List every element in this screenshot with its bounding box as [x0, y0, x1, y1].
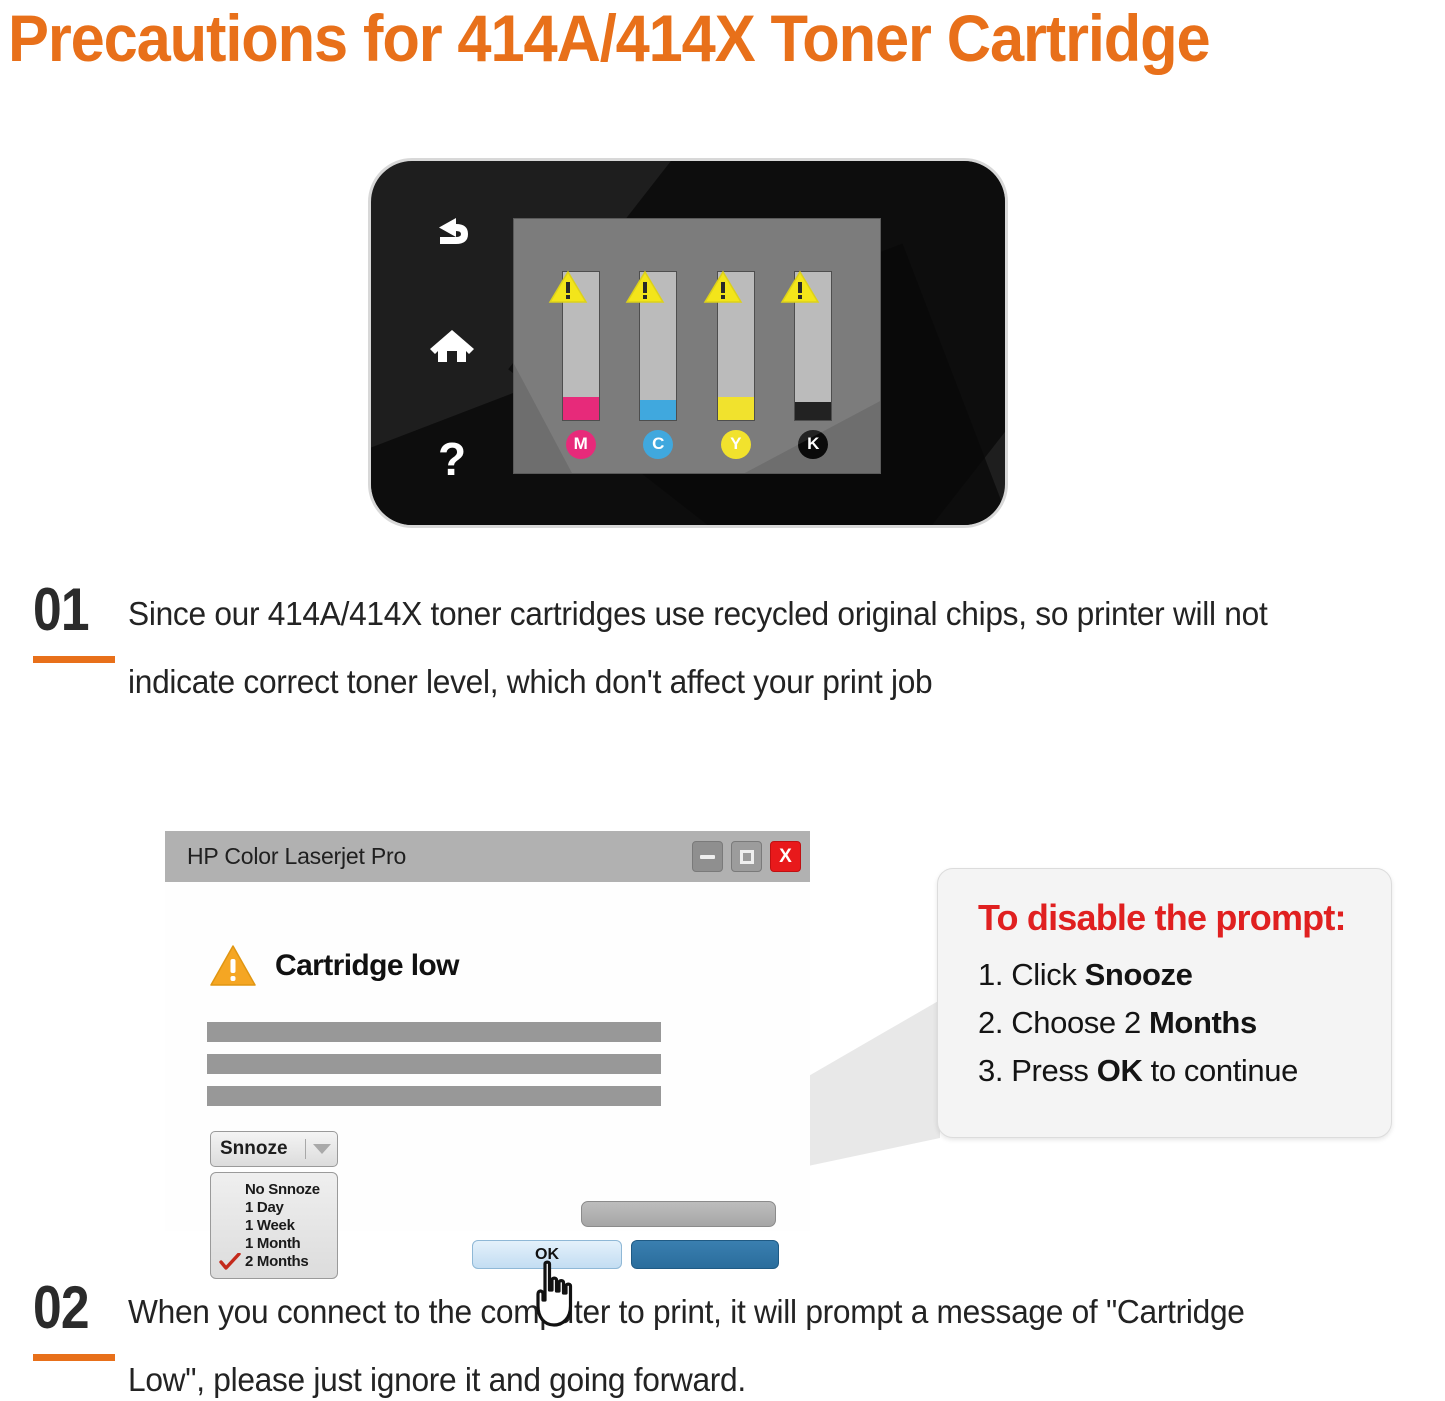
- panel-bezel: ?: [368, 158, 1008, 528]
- snooze-option-label: 1 Day: [245, 1199, 284, 1216]
- callout-step-2: 2. Choose 2 Months: [978, 999, 1391, 1047]
- dialog-primary-blue-button[interactable]: [631, 1240, 779, 1269]
- callout-step-strong: OK: [1097, 1053, 1143, 1088]
- svg-text:?: ?: [438, 434, 466, 482]
- toner-gauge-magenta: M: [550, 253, 612, 459]
- placeholder-bar: [207, 1086, 661, 1106]
- callout-step-number: 2.: [978, 1005, 1003, 1040]
- step-number: 01: [33, 580, 115, 640]
- printer-control-panel: ?: [368, 158, 1008, 528]
- toner-badge-m: M: [566, 430, 596, 460]
- callout-step-number: 3.: [978, 1053, 1003, 1088]
- toner-tube: [562, 271, 600, 421]
- callout-heading: To disable the prompt:: [978, 897, 1391, 939]
- callout-step-strong: Snooze: [1085, 957, 1193, 992]
- cartridge-low-dialog: HP Color Laserjet Pro X: [165, 831, 810, 1231]
- callout-step-pre: Click: [1011, 957, 1084, 992]
- snooze-option-1-day[interactable]: 1 Day: [215, 1198, 333, 1216]
- toner-fill: [563, 397, 599, 419]
- step-number-col-02: 02: [0, 1278, 128, 1401]
- step-text: When you connect to the computer to prin…: [128, 1278, 1328, 1401]
- callout-step-number: 1.: [978, 957, 1003, 992]
- maximize-icon[interactable]: [731, 841, 762, 872]
- toner-badge-k: K: [798, 430, 828, 460]
- dialog-alert-row: Cartridge low: [165, 944, 810, 988]
- snooze-option-1-week[interactable]: 1 Week: [215, 1216, 333, 1234]
- snooze-option-label: No Snnoze: [245, 1181, 320, 1198]
- snooze-option-label: 1 Month: [245, 1235, 300, 1252]
- dialog-text-placeholders: [165, 1022, 810, 1106]
- snooze-option-1-month[interactable]: 1 Month: [215, 1234, 333, 1252]
- step-rule: [33, 656, 115, 663]
- dialog-body: Cartridge low Snnoze No Snnoze: [165, 882, 810, 1231]
- close-icon[interactable]: X: [770, 841, 801, 872]
- warning-triangle-icon: [209, 944, 257, 988]
- callout-step-post: to continue: [1142, 1053, 1297, 1088]
- toner-fill: [795, 402, 831, 420]
- panel-screen: M C: [513, 218, 881, 474]
- dialog-alert-heading: Cartridge low: [275, 949, 459, 983]
- toner-tube: [717, 271, 755, 421]
- checkmark-icon: [219, 1253, 241, 1270]
- warning-triangle-icon: [548, 270, 588, 304]
- home-icon[interactable]: [423, 317, 481, 375]
- dialog-secondary-bar-button[interactable]: [581, 1201, 776, 1227]
- precautions-infographic: Precautions for 414A/414X Toner Cartridg…: [0, 0, 1445, 1401]
- toner-gauge-yellow: Y: [705, 253, 767, 459]
- divider: [305, 1139, 306, 1159]
- toner-tube: [794, 271, 832, 421]
- back-arrow-icon[interactable]: [423, 205, 481, 263]
- hand-cursor-icon: [529, 1260, 585, 1328]
- minimize-icon[interactable]: [692, 841, 723, 872]
- snooze-select-button[interactable]: Snnoze: [210, 1131, 338, 1167]
- snooze-options-list: No Snnoze 1 Day 1 Week 1 Month: [210, 1172, 338, 1279]
- toner-fill: [640, 400, 676, 419]
- placeholder-bar: [207, 1022, 661, 1042]
- callout-instructions: To disable the prompt: 1. Click Snooze 2…: [937, 868, 1392, 1138]
- help-question-icon[interactable]: ?: [423, 429, 481, 487]
- toner-level-gauges: M C: [514, 219, 880, 473]
- placeholder-bar: [207, 1054, 661, 1074]
- step-rule: [33, 1354, 115, 1361]
- page-title: Precautions for 414A/414X Toner Cartridg…: [8, 0, 1343, 80]
- callout-step-3: 3. Press OK to continue: [978, 1047, 1391, 1095]
- step-text: Since our 414A/414X toner cartridges use…: [128, 580, 1328, 716]
- step-number: 02: [33, 1278, 115, 1338]
- toner-gauge-cyan: C: [627, 253, 689, 459]
- warning-triangle-icon: [625, 270, 665, 304]
- panel-nav-buttons: ?: [409, 205, 495, 487]
- dialog-titlebar: HP Color Laserjet Pro X: [165, 831, 810, 882]
- toner-fill: [718, 397, 754, 419]
- step-block-01: 01 Since our 414A/414X toner cartridges …: [0, 580, 1420, 716]
- callout-step-1: 1. Click Snooze: [978, 951, 1391, 999]
- callout-step-pre: Choose 2: [1011, 1005, 1149, 1040]
- window-controls: X: [692, 841, 801, 872]
- snooze-option-label: 1 Week: [245, 1217, 295, 1234]
- dialog-window-title: HP Color Laserjet Pro: [187, 843, 406, 870]
- snooze-option-2-months[interactable]: 2 Months: [215, 1252, 333, 1270]
- toner-tube: [639, 271, 677, 421]
- warning-triangle-icon: [780, 270, 820, 304]
- toner-gauge-black: K: [782, 253, 844, 459]
- toner-badge-y: Y: [721, 430, 751, 460]
- snooze-select-label: Snnoze: [220, 1138, 288, 1160]
- chevron-down-icon[interactable]: [313, 1144, 331, 1154]
- snooze-dropdown: Snnoze No Snnoze 1 Day 1 Week 1 Mon: [210, 1131, 338, 1279]
- callout-step-pre: Press: [1011, 1053, 1096, 1088]
- callout-step-strong: Months: [1149, 1005, 1257, 1040]
- toner-badge-c: C: [643, 430, 673, 460]
- step-number-col-01: 01: [0, 580, 128, 716]
- step-block-02: 02 When you connect to the computer to p…: [0, 1278, 1420, 1401]
- warning-triangle-icon: [703, 270, 743, 304]
- snooze-option-no-snooze[interactable]: No Snnoze: [215, 1180, 333, 1198]
- snooze-option-label: 2 Months: [245, 1253, 308, 1270]
